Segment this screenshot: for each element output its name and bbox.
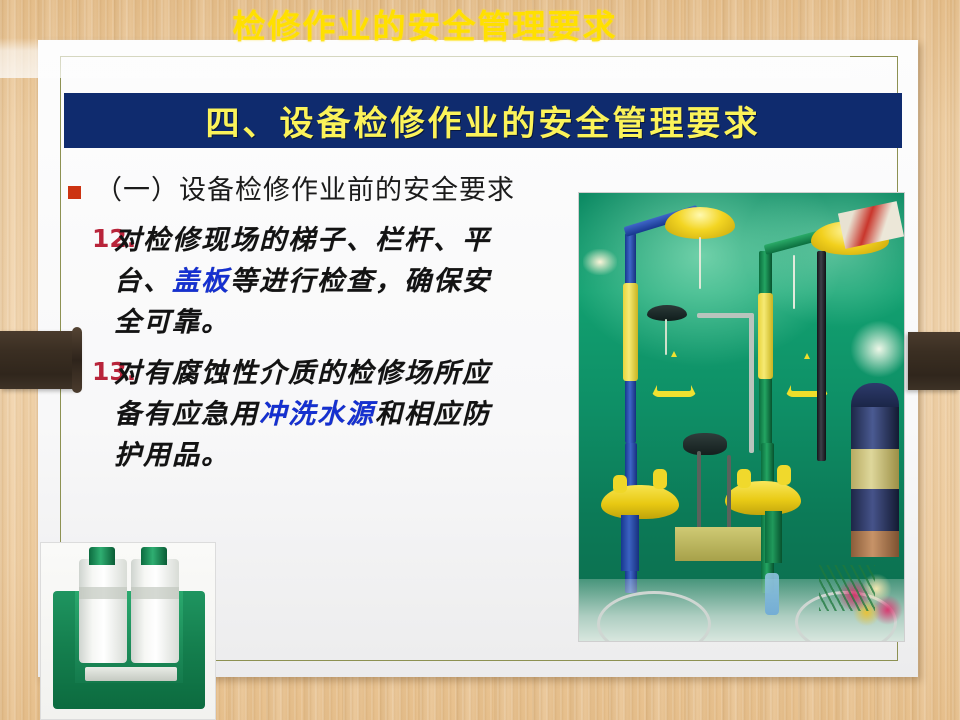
brown-ribbon-right (908, 332, 960, 390)
eyewash-nozzle-right-a (737, 469, 751, 488)
item-12-seg-1-highlight: 盖板 (172, 266, 230, 297)
shower-pipe-dark-vertical (817, 251, 826, 461)
list-item: 13. 对有腐蚀性介质的检修场所应备有应急用冲洗水源和相应防护用品。 (68, 353, 560, 476)
bottle-right-label (131, 587, 179, 599)
eyewash-stand-left (621, 515, 639, 571)
shower-label-yellow-center (758, 293, 773, 379)
flower-foliage (819, 565, 875, 611)
shower-pipe-vertical-gray (749, 313, 754, 453)
bottle-left-body (79, 559, 127, 663)
gas-cylinder-label (851, 449, 899, 491)
bottle-left-label (79, 587, 127, 599)
red-square-bullet-icon (68, 186, 81, 199)
water-bottle (765, 573, 779, 615)
brown-ribbon-left (0, 331, 78, 389)
gas-cylinder-body-upper (851, 407, 899, 453)
title-banner: 四、设备检修作业的安全管理要求 (64, 93, 902, 148)
shower-pull-cord-left (699, 237, 701, 289)
item-body-12: 对检修现场的梯子、栏杆、平台、盖板等进行检查，确保安全可靠。 (114, 220, 514, 343)
eyewash-nozzle-left-b (653, 469, 667, 489)
holder-base-plate (85, 667, 177, 681)
wall-sign-right-icon (851, 321, 905, 377)
eyewash-basin-dark (683, 433, 727, 455)
list-item: 12. 对检修现场的梯子、栏杆、平台、盖板等进行检查，确保安全可靠。 (68, 220, 560, 343)
item-13-seg-1-highlight: 冲洗水源 (259, 399, 375, 430)
eyewash-bowl-right (725, 481, 801, 515)
bottle-right-cap (141, 547, 167, 565)
item-body-13: 对有腐蚀性介质的检修场所应备有应急用冲洗水源和相应防护用品。 (114, 353, 514, 476)
bottle-left-cap (89, 547, 115, 565)
shower-pull-cord-small (665, 319, 667, 355)
item-number-12: 12. (68, 220, 114, 253)
content-text-column: （一）设备检修作业前的安全要求 12. 对检修现场的梯子、栏杆、平台、盖板等进行… (68, 172, 560, 477)
overlay-header-title: 检修作业的安全管理要求 (0, 8, 850, 46)
bottle-right-body (131, 559, 179, 663)
wall-sign-left-icon (583, 249, 617, 275)
slide-stage: 四、设备检修作业的安全管理要求 检修作业的安全管理要求 （一）设备检修作业前的安… (0, 0, 960, 720)
shower-head-yellow-left (665, 207, 735, 239)
shower-head-dark-small (647, 305, 687, 321)
eyewash-nozzle-left-a (613, 475, 627, 493)
eyewash-bottles-photo (40, 542, 216, 720)
eyewash-platform-yellow (675, 527, 761, 561)
section-heading-text: （一）设备检修作业前的安全要求 (95, 172, 515, 210)
gas-cylinder-body-lower (851, 489, 899, 533)
shower-pull-cord-right (793, 255, 795, 309)
banner-title-text: 四、设备检修作业的安全管理要求 (206, 96, 761, 145)
eyewash-stand-right (765, 511, 782, 563)
gas-cylinder-base (851, 531, 899, 557)
eyewash-nozzle-right-b (777, 465, 791, 485)
shower-pipe-horizontal-gray (697, 313, 753, 318)
section-bullet-row: （一）设备检修作业前的安全要求 (68, 172, 560, 210)
shower-label-yellow-left (623, 283, 638, 381)
overlay-header-text: 检修作业的安全管理要求 (233, 7, 618, 46)
emergency-shower-photo (578, 192, 905, 642)
